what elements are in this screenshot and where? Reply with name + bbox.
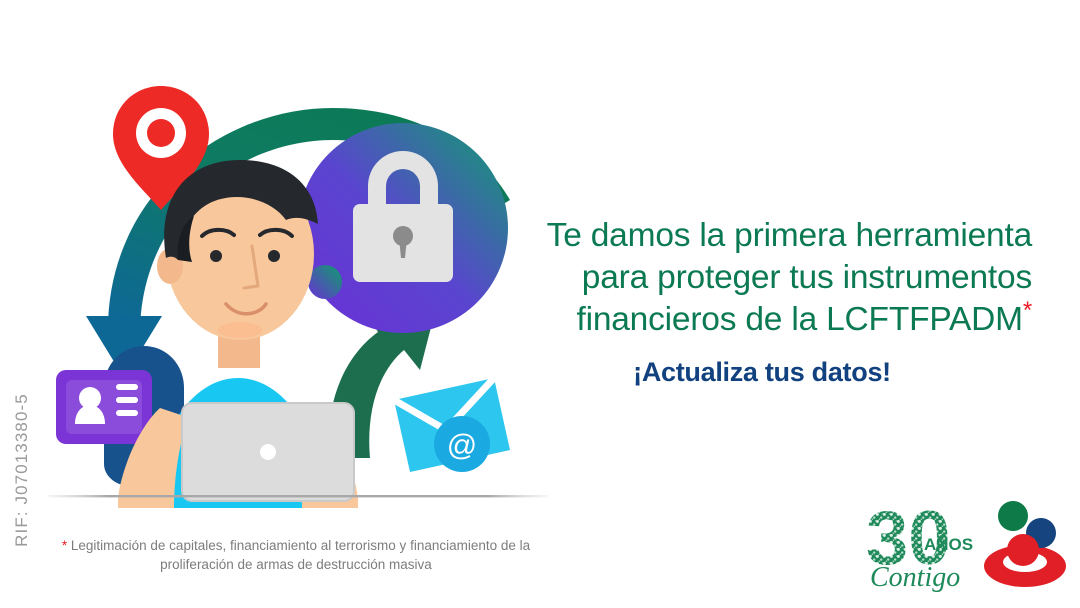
svg-text:@: @ [447,429,477,462]
gradient-dot-icon [308,265,342,299]
anniversary-script: Contigo [870,562,960,592]
footnote: * Legitimación de capitales, financiamie… [56,536,536,574]
headline-line-3-text: financieros de la LCFTFPADM [576,301,1022,338]
padlock-circle-icon [298,123,508,333]
promo-banner: RIF: J07013380-5 [0,0,1080,608]
anniversary-label: AÑOS [924,534,973,554]
headline-asterisk: * [1023,297,1032,324]
anniversary-logo: 30 AÑOS Contigo [862,492,974,592]
rif-identifier: RIF: J07013380-5 [12,365,32,575]
footnote-asterisk: * [62,538,67,553]
headline-line-3: financieros de la LCFTFPADM* [540,299,1032,341]
footnote-line-1: Legitimación de capitales, financiamient… [71,538,406,553]
logo-circle-green [998,501,1028,531]
headline-line-2: para proteger tus instrumentos [540,257,1032,299]
headline-line-1: Te damos la primera herramienta [540,215,1032,257]
logo-circle-red [1007,534,1039,566]
mercantil-logo [982,500,1068,588]
id-card-icon [56,370,152,444]
desk-line [48,495,548,497]
laptop [182,403,354,501]
at-sign-badge-icon: @ [434,416,490,472]
copy-block: Te damos la primera herramienta para pro… [540,215,1032,388]
subheadline: ¡Actualiza tus datos! [540,357,984,388]
hero-illustration: @ [48,78,548,508]
